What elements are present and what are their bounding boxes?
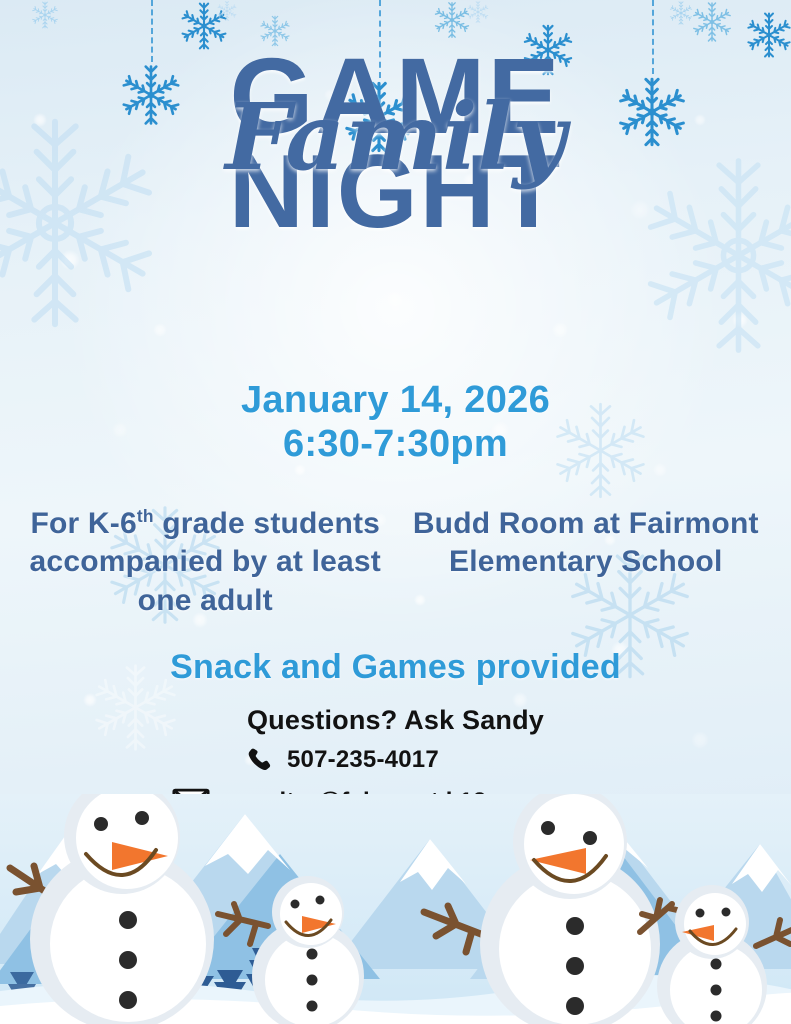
hanging-snowflake [30, 0, 60, 35]
snowflake-icon [432, 0, 472, 40]
phone-number: 507-235-4017 [287, 746, 439, 774]
title-family: Family [0, 101, 791, 175]
snowman-eye [316, 896, 325, 905]
snowflake-icon [30, 0, 60, 30]
snowflake-icon [466, 0, 490, 24]
snowman-eye [722, 908, 731, 917]
hanging-snowflake [216, 0, 238, 27]
event-time: 6:30-7:30pm [0, 422, 791, 466]
flyer-canvas: GAME Family NIGHT January 14, 2026 6:30-… [0, 0, 791, 1024]
winter-scene-illustration [0, 794, 791, 1024]
snowman-button [711, 959, 722, 970]
snowman-button [566, 917, 584, 935]
snowman-button [307, 949, 318, 960]
snowman-button [119, 991, 137, 1009]
phone-icon [246, 745, 273, 775]
snowman-eye [583, 831, 597, 845]
audience-ordinal-suffix: th [137, 506, 154, 526]
sparkle [552, 322, 568, 338]
snowman-button [119, 951, 137, 969]
snowman-button [711, 985, 722, 996]
snowman-button [307, 975, 318, 986]
snowflake-icon [178, 0, 230, 52]
snowflake-icon [668, 0, 694, 26]
sparkle [386, 291, 404, 309]
location-text: Budd Room at Fairmont Elementary School [405, 505, 768, 582]
snowman-button [711, 1011, 722, 1022]
questions-line: Questions? Ask Sandy [0, 705, 791, 736]
snowman-button [307, 1001, 318, 1012]
hanging-snowflake [466, 0, 490, 29]
snowman-eye [291, 900, 300, 909]
details-columns: For K-6th grade students accompanied by … [24, 505, 767, 620]
date-time-block: January 14, 2026 6:30-7:30pm [0, 378, 791, 466]
audience-text: For K-6th grade students accompanied by … [24, 505, 387, 620]
hanging-snowflake [690, 0, 734, 49]
snowflake-icon [690, 0, 734, 44]
phone-row[interactable]: 507-235-4017 [246, 745, 439, 775]
hanging-snowflake [668, 0, 694, 31]
snowman-button [566, 957, 584, 975]
snowman-eye [94, 817, 108, 831]
location-column: Budd Room at Fairmont Elementary School [405, 505, 768, 620]
event-date: January 14, 2026 [0, 378, 791, 422]
snowman-button [566, 997, 584, 1015]
snowman-eye [541, 821, 555, 835]
snowflake-icon [216, 0, 238, 22]
snack-note: Snack and Games provided [0, 648, 791, 687]
title-block: GAME Family NIGHT [0, 46, 791, 241]
snowman-button [119, 911, 137, 929]
snowman-eye [696, 909, 705, 918]
audience-prefix: For K-6 [30, 507, 136, 540]
audience-column: For K-6th grade students accompanied by … [24, 505, 387, 620]
snowman-eye [135, 811, 149, 825]
